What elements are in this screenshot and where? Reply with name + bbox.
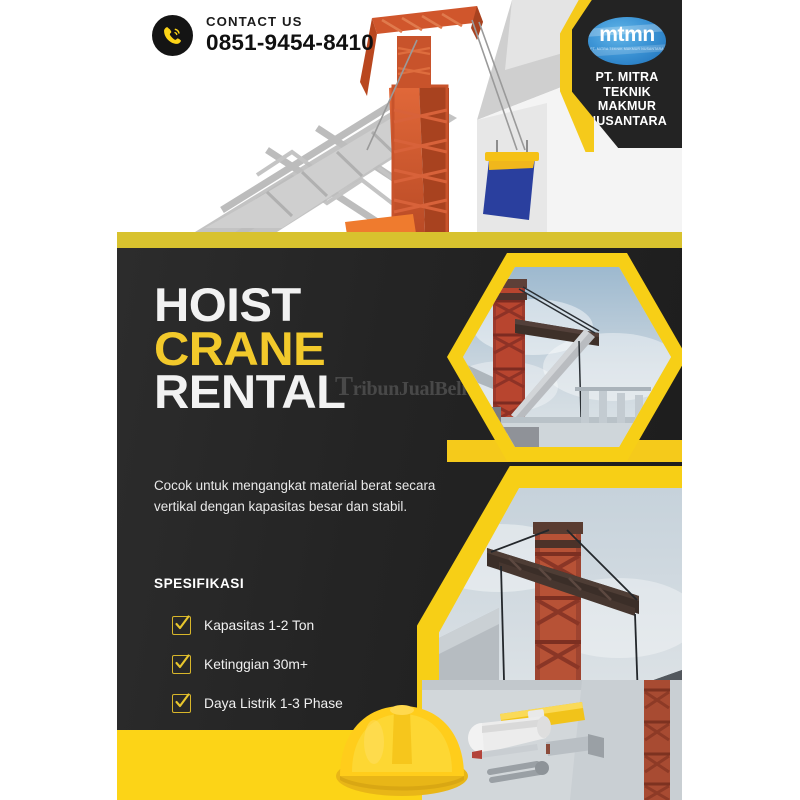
gold-divider-bar [117,232,682,249]
phone-call-icon[interactable] [152,15,193,56]
ellipse-logo-icon: mtmn PT. MITRA TEKNIK MAKMUR NUSANTARA [588,17,666,65]
company-name-line3: MAKMUR [598,99,656,113]
checkbox-checked-icon [172,694,191,713]
description-text: Cocok untuk mengangkat material berat se… [154,475,450,517]
list-item: Ketinggian 30m+ [172,645,343,684]
page-title: HOIST CRANE RENTAL [154,283,338,414]
hexagon-photo-frame [447,253,682,461]
spec-item-label: Ketinggian 30m+ [204,657,308,672]
contact-text-block: CONTACT US 0851-9454-8410 [206,14,374,56]
main-content-panel: HOIST CRANE RENTAL TribunJualBeli Cocok … [117,248,682,730]
contact-phone-number[interactable]: 0851-9454-8410 [206,30,374,56]
checkbox-checked-icon [172,655,191,674]
spec-item-label: Kapasitas 1-2 Ton [204,618,314,633]
poster-canvas: mtmn PT. MITRA TEKNIK MAKMUR NUSANTARA P… [117,0,682,800]
checkbox-checked-icon [172,616,191,635]
logo-tagline: PT. MITRA TEKNIK MAKMUR NUSANTARA [588,47,666,51]
hardhat-and-tools-photo [332,680,682,800]
company-name-line1: PT. MITRA [596,70,659,84]
company-name-line2: TEKNIK [603,85,651,99]
watermark-initial: T [335,371,353,401]
list-item: Daya Listrik 1-3 Phase [172,684,343,723]
spec-heading: SPESIFIKASI [154,576,244,591]
contact-info[interactable]: CONTACT US 0851-9454-8410 [152,14,374,56]
title-line-crane: CRANE [154,327,345,371]
title-line-rental: RENTAL [154,370,345,414]
spec-item-label: Daya Listrik 1-3 Phase [204,696,343,711]
title-line-hoist: HOIST [154,283,345,327]
spec-list: Kapasitas 1-2 Ton Ketinggian 30m+ Daya L… [172,606,343,723]
contact-us-label: CONTACT US [206,14,374,29]
logo-wordmark: mtmn [588,24,666,45]
list-item: Kapasitas 1-2 Ton [172,606,343,645]
